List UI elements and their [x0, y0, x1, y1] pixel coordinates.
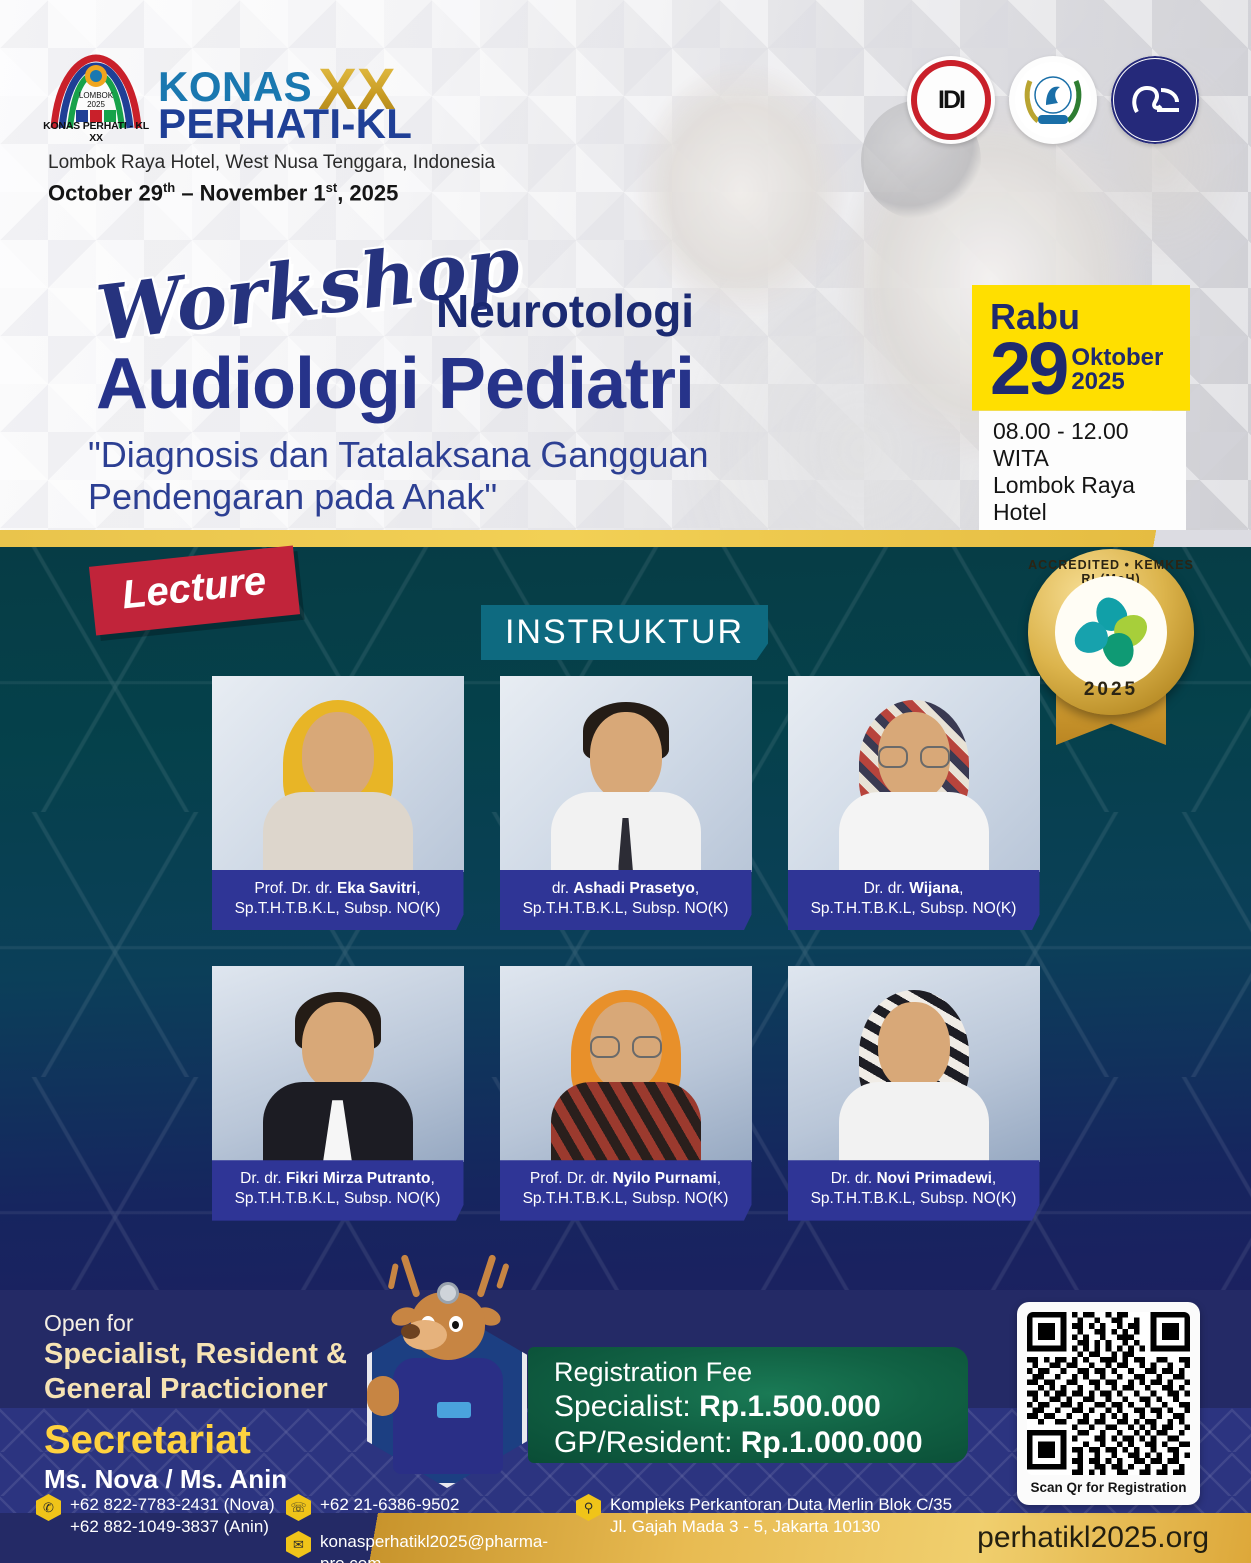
name-suffix: , — [959, 880, 963, 897]
whatsapp-number-2: +62 882-1049-3837 (Anin) — [70, 1516, 275, 1538]
instructor-name-line: Dr. dr. Fikri Mirza Putranto, — [218, 1169, 458, 1189]
subtitle-line-2: Pendengaran pada Anak" — [88, 476, 709, 518]
eyeglasses — [878, 746, 950, 764]
instructor-nameplate: Prof. Dr. dr. Nyilo Purnami, Sp.T.H.T.B.… — [500, 1160, 752, 1220]
torso — [551, 1082, 701, 1162]
kemkes-flower-icon — [1078, 599, 1144, 665]
torso — [263, 792, 413, 872]
name-suffix: , — [416, 880, 420, 897]
date-end: , 2025 — [337, 180, 398, 205]
antler-left — [400, 1254, 420, 1298]
page-title: Audiologi Pediatri — [96, 343, 694, 425]
open-for-line-1: Specialist, Resident & — [44, 1337, 347, 1372]
figure — [551, 694, 701, 872]
konas-emblem-label: KONAS PERHATI - KL XX — [40, 120, 152, 144]
instructor-card: Prof. Dr. dr. Eka Savitri, Sp.T.H.T.B.K.… — [212, 676, 464, 930]
contact-phone-row[interactable]: ☏ +62 21-6386-9502 — [286, 1494, 459, 1521]
instructor-card: dr. Ashadi Prasetyo, Sp.T.H.T.B.K.L, Sub… — [500, 676, 752, 930]
perhati-inner — [1015, 62, 1091, 138]
figure — [263, 694, 413, 872]
open-for-label: Open for — [44, 1310, 347, 1337]
address-lines: Kompleks Perkantoran Duta Merlin Blok C/… — [610, 1494, 952, 1538]
date-badge-row: 29 Oktober 2025 — [990, 337, 1174, 401]
instructor-photo — [500, 676, 752, 872]
fee-specialist-label: Specialist: — [554, 1390, 699, 1423]
fee-gp-label: GP/Resident: — [554, 1426, 741, 1459]
contact-email-row[interactable]: ✉ konasperhatikl2025@pharma-pro.com — [286, 1531, 576, 1563]
address-line-1: Kompleks Perkantoran Duta Merlin Blok C/… — [610, 1494, 952, 1516]
thumbs-up-hand — [367, 1376, 399, 1416]
instructor-name-line: Prof. Dr. dr. Eka Savitri, — [218, 879, 458, 899]
name-prefix: dr. — [552, 880, 574, 897]
instructor-nameplate: Dr. dr. Fikri Mirza Putranto, Sp.T.H.T.B… — [212, 1160, 464, 1220]
fee-gp-row: GP/Resident: Rp.1.000.000 — [554, 1425, 968, 1461]
instructor-name: Wijana — [909, 880, 959, 897]
header-date-range: October 29th – November 1st, 2025 — [48, 180, 398, 206]
name-suffix: , — [992, 1170, 996, 1187]
instructor-name-line: dr. Ashadi Prasetyo, — [506, 879, 746, 899]
torso — [839, 1082, 989, 1162]
date-month: Oktober — [1071, 346, 1163, 370]
mascot-jacket-badge — [437, 1402, 471, 1418]
konas-wordmark: KONASXX PERHATI-KL — [158, 52, 412, 144]
instructor-row-2: Dr. dr. Fikri Mirza Putranto, Sp.T.H.T.B… — [0, 966, 1251, 1220]
date-day-number: 29 — [990, 337, 1066, 401]
qr-card[interactable]: Scan Qr for Registration — [1017, 1302, 1200, 1505]
email-address: konasperhatikl2025@pharma-pro.com — [320, 1531, 576, 1563]
name-prefix: Dr. dr. — [864, 880, 910, 897]
svg-text:LOMBOK: LOMBOK — [79, 91, 114, 100]
instructor-nameplate: Moderator Dr. dr. Novi Primadewi, Sp.T.H… — [788, 1160, 1040, 1220]
instructor-photo — [212, 966, 464, 1162]
contact-phone-email-group[interactable]: ☏ +62 21-6386-9502 ✉ konasperhatikl2025@… — [286, 1494, 576, 1563]
idi-logo-text: IDI — [938, 86, 964, 115]
konas-emblem-icon: LOMBOK 2025 KONAS PERHATI - KL XX — [48, 52, 144, 144]
phone-icon: ☏ — [286, 1494, 311, 1521]
date-year: 2025 — [1071, 370, 1163, 394]
address-line-2: Jl. Gajah Mada 3 - 5, Jakarta 10130 — [610, 1516, 952, 1538]
email-icon: ✉ — [286, 1531, 311, 1558]
date-middle: – November 1 — [175, 180, 325, 205]
instructor-card: Dr. dr. Fikri Mirza Putranto, Sp.T.H.T.B… — [212, 966, 464, 1220]
fee-specialist-row: Specialist: Rp.1.500.000 — [554, 1389, 968, 1425]
instructor-card: Prof. Dr. dr. Nyilo Purnami, Sp.T.H.T.B.… — [500, 966, 752, 1220]
location-pin-icon: ⚲ — [576, 1494, 601, 1521]
instructor-name: Novi Primadewi — [876, 1170, 991, 1187]
eye-right — [449, 1316, 463, 1332]
antler-right — [476, 1254, 496, 1298]
qr-caption: Scan Qr for Registration — [1027, 1475, 1190, 1501]
fee-gp-amount: Rp.1.000.000 — [741, 1426, 923, 1459]
instructor-heading-label: INSTRUKTUR — [505, 613, 744, 652]
date-month-year: Oktober 2025 — [1071, 346, 1163, 395]
instructor-grid: Prof. Dr. dr. Eka Savitri, Sp.T.H.T.B.K.… — [0, 676, 1251, 1221]
name-suffix: , — [431, 1170, 435, 1187]
seal-inner-circle — [1055, 576, 1167, 688]
fee-specialist-amount: Rp.1.500.000 — [699, 1390, 881, 1423]
instructor-nameplate: Dr. dr. Wijana, Sp.T.H.T.B.K.L, Subsp. N… — [788, 870, 1040, 930]
open-for-line-2: General Practicioner — [44, 1372, 347, 1407]
head-mirror-icon — [437, 1282, 459, 1304]
instructor-credentials: Sp.T.H.T.B.K.L, Subsp. NO(K) — [506, 899, 746, 919]
header-venue: Lombok Raya Hotel, West Nusa Tenggara, I… — [48, 152, 495, 174]
date-badge-white: 08.00 - 12.00 WITA Lombok Raya Hotel — [979, 411, 1186, 536]
eyeglasses — [590, 1036, 662, 1054]
contact-strip: ✆ +62 822-7783-2431 (Nova) +62 882-1049-… — [36, 1494, 1016, 1563]
instructor-nameplate: Prof. Dr. dr. Eka Savitri, Sp.T.H.T.B.K.… — [212, 870, 464, 930]
instructor-row-1: Prof. Dr. dr. Eka Savitri, Sp.T.H.T.B.K.… — [0, 676, 1251, 930]
instructor-credentials: Sp.T.H.T.B.K.L, Subsp. NO(K) — [794, 899, 1034, 919]
organization-logos: IDI — [907, 56, 1199, 144]
instructor-card: Moderator Dr. dr. Novi Primadewi, Sp.T.H… — [788, 966, 1040, 1220]
name-suffix: , — [695, 880, 699, 897]
instructor-name-line: Dr. dr. Novi Primadewi, — [794, 1169, 1034, 1189]
torso — [839, 792, 989, 872]
instructor-credentials: Sp.T.H.T.B.K.L, Subsp. NO(K) — [506, 1189, 746, 1209]
open-for-block: Open for Specialist, Resident & General … — [44, 1310, 347, 1407]
contact-address-group: ⚲ Kompleks Perkantoran Duta Merlin Blok … — [576, 1494, 1006, 1563]
instructor-name-line: Dr. dr. Wijana, — [794, 879, 1034, 899]
date-badge: Rabu 29 Oktober 2025 08.00 - 12.00 WITA … — [972, 285, 1190, 535]
name-prefix: Prof. Dr. dr. — [254, 880, 337, 897]
instructor-credentials: Sp.T.H.T.B.K.L, Subsp. NO(K) — [218, 1189, 458, 1209]
instructor-nameplate: dr. Ashadi Prasetyo, Sp.T.H.T.B.K.L, Sub… — [500, 870, 752, 930]
name-prefix: Prof. Dr. dr. — [530, 1170, 613, 1187]
secretariat-block: Secretariat Ms. Nova / Ms. Anin — [44, 1420, 287, 1495]
kodi-outer-ring — [1111, 56, 1199, 144]
subtitle-line-1: "Diagnosis dan Tatalaksana Gangguan — [88, 434, 709, 476]
instructor-name: Eka Savitri — [337, 880, 416, 897]
head — [302, 1002, 374, 1090]
kodi-neurotologi-logo-icon — [1111, 56, 1199, 144]
registration-fee-box: Registration Fee Specialist: Rp.1.500.00… — [528, 1347, 968, 1463]
date-sup-th: th — [163, 180, 175, 195]
name-prefix: Dr. dr. — [831, 1170, 877, 1187]
phone-number: +62 21-6386-9502 — [320, 1494, 459, 1516]
instructor-heading: INSTRUKTUR — [481, 605, 768, 660]
konas-edition-number: XX — [318, 57, 395, 122]
instructor-card: Dr. dr. Wijana, Sp.T.H.T.B.K.L, Subsp. N… — [788, 676, 1040, 930]
event-poster: LOMBOK 2025 KONAS PERHATI - KL XX KONASX… — [0, 0, 1251, 1563]
brand-bar: LOMBOK 2025 KONAS PERHATI - KL XX KONASX… — [48, 52, 412, 144]
secretariat-names: Ms. Nova / Ms. Anin — [44, 1464, 287, 1495]
figure — [839, 984, 989, 1162]
head — [302, 712, 374, 800]
head — [878, 1002, 950, 1090]
instructor-credentials: Sp.T.H.T.B.K.L, Subsp. NO(K) — [794, 1189, 1034, 1209]
date-start: October 29 — [48, 180, 163, 205]
instructor-credentials: Sp.T.H.T.B.K.L, Subsp. NO(K) — [218, 899, 458, 919]
head — [590, 712, 662, 800]
event-venue: Lombok Raya Hotel — [993, 472, 1172, 526]
subtitle: "Diagnosis dan Tatalaksana Gangguan Pend… — [88, 434, 709, 518]
secretariat-heading: Secretariat — [44, 1420, 287, 1460]
instructor-photo — [788, 966, 1040, 1162]
perhati-kl-logo-icon — [1009, 56, 1097, 144]
qr-code-svg — [1027, 1312, 1190, 1475]
instructor-photo — [788, 676, 1040, 872]
figure — [839, 694, 989, 872]
whatsapp-number-1: +62 822-7783-2431 (Nova) — [70, 1494, 275, 1516]
figure — [263, 984, 413, 1162]
deer-mascot-icon — [345, 1250, 545, 1495]
idi-logo-icon: IDI — [907, 56, 995, 144]
qr-code-icon[interactable] — [1027, 1312, 1190, 1475]
perhati-crest-icon — [1018, 65, 1088, 135]
whatsapp-icon: ✆ — [36, 1494, 61, 1521]
instructor-name: Nyilo Purnami — [613, 1170, 717, 1187]
fee-heading: Registration Fee — [554, 1357, 968, 1389]
whatsapp-numbers: +62 822-7783-2431 (Nova) +62 882-1049-38… — [70, 1494, 275, 1538]
idi-ring: IDI — [911, 60, 991, 140]
date-sup-st: st — [326, 180, 338, 195]
figure — [551, 984, 701, 1162]
date-badge-yellow: Rabu 29 Oktober 2025 — [972, 285, 1190, 411]
instructor-photo — [212, 676, 464, 872]
name-prefix: Dr. dr. — [240, 1170, 286, 1187]
instructor-photo — [500, 966, 752, 1162]
svg-text:2025: 2025 — [87, 100, 105, 109]
qr-registration-block[interactable]: Scan Qr for Registration — [1017, 1302, 1200, 1505]
event-time: 08.00 - 12.00 WITA — [993, 418, 1172, 472]
instructor-name-line: Prof. Dr. dr. Nyilo Purnami, — [506, 1169, 746, 1189]
name-suffix: , — [717, 1170, 721, 1187]
contact-whatsapp-group[interactable]: ✆ +62 822-7783-2431 (Nova) +62 882-1049-… — [36, 1494, 286, 1563]
neurotologi-title: Neurotologi — [436, 284, 694, 338]
instructor-name: Fikri Mirza Putranto — [286, 1170, 431, 1187]
instructor-name: Ashadi Prasetyo — [573, 880, 694, 897]
konas-arch-icon: LOMBOK 2025 — [48, 52, 144, 130]
moderator-badge: Moderator — [796, 938, 899, 964]
nose — [401, 1324, 420, 1339]
